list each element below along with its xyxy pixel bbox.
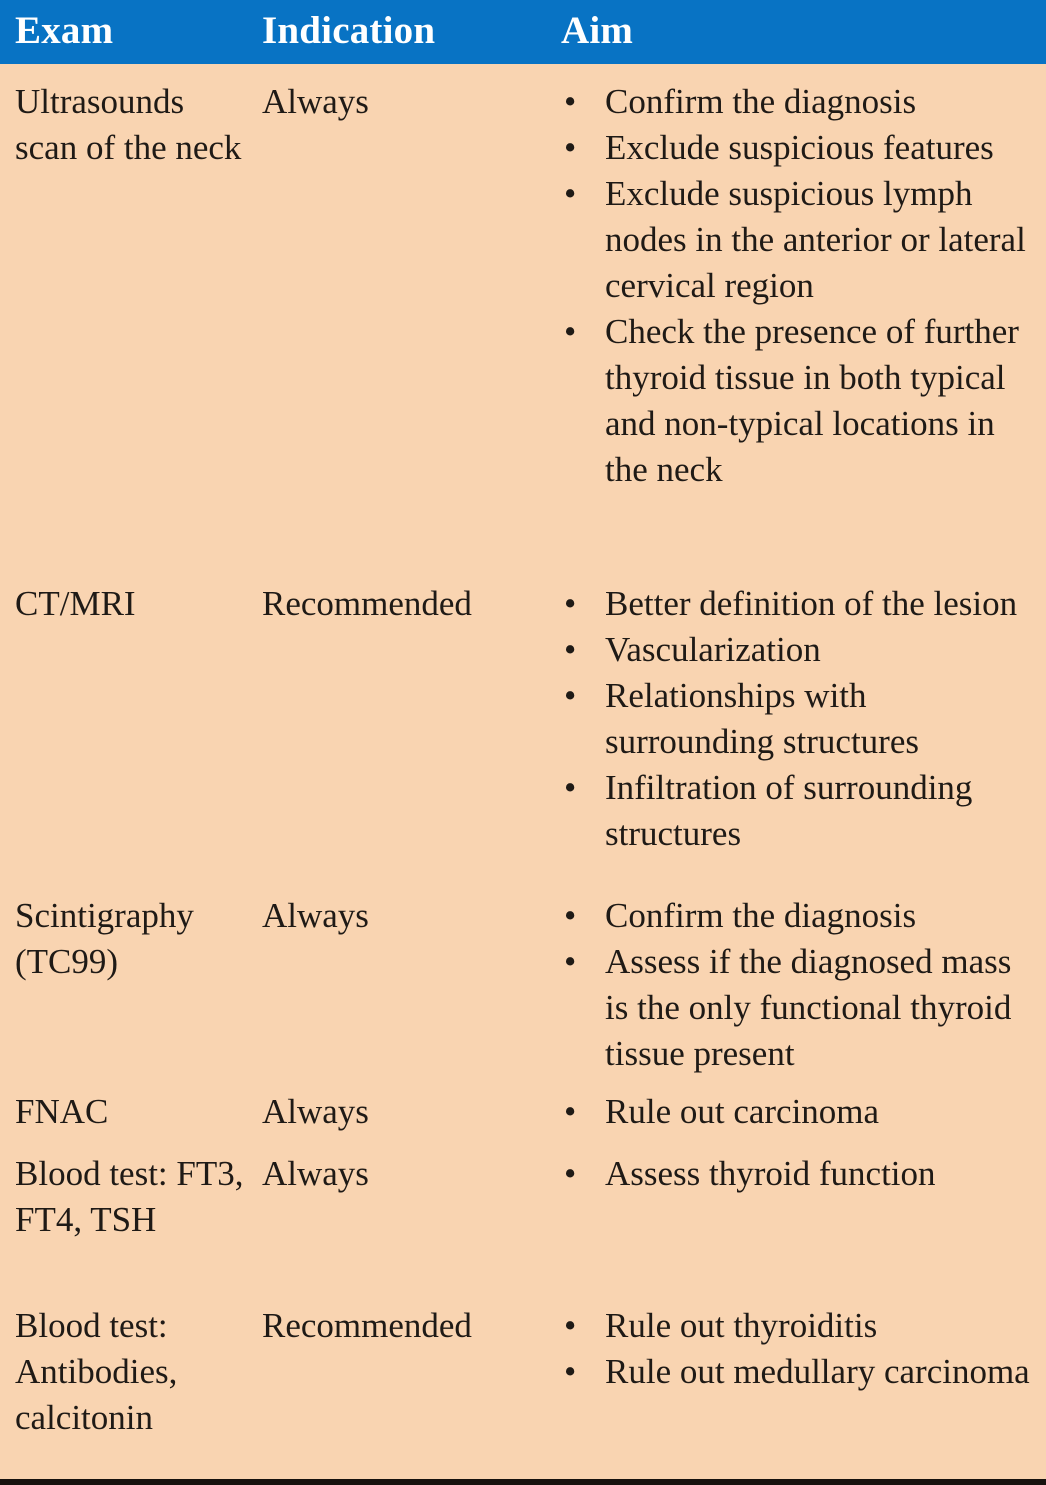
list-item: •Vascularization	[560, 627, 1032, 673]
cell-indication: Always	[262, 1151, 557, 1197]
cell-indication: Recommended	[262, 1303, 557, 1349]
cell-indication: Recommended	[262, 581, 557, 627]
column-header-indication: Indication	[262, 9, 435, 53]
bullet-icon: •	[564, 939, 576, 985]
list-item: •Assess thyroid function	[560, 1151, 1032, 1197]
list-item: •Infiltration of surrounding structures	[560, 765, 1032, 857]
list-item-label: Rule out carcinoma	[605, 1092, 879, 1131]
cell-exam: Scintigraphy (TC99)	[15, 893, 255, 985]
list-item: •Better definition of the lesion	[560, 581, 1032, 627]
table-header-row: Exam Indication Aim	[0, 0, 1046, 64]
table-row: Blood test: FT3, FT4, TSH Always •Assess…	[0, 1151, 1046, 1303]
list-item-label: Exclude suspicious features	[605, 128, 994, 167]
cell-indication: Always	[262, 79, 557, 125]
bullet-icon: •	[564, 1303, 576, 1349]
list-item-label: Confirm the diagnosis	[605, 82, 916, 121]
list-item-label: Relationships with surrounding structure…	[605, 676, 919, 761]
diagnostic-workup-table: Exam Indication Aim Ultrasounds scan of …	[0, 0, 1046, 1485]
cell-exam: Blood test: FT3, FT4, TSH	[15, 1151, 255, 1243]
cell-indication: Always	[262, 1089, 557, 1135]
cell-aim: •Confirm the diagnosis •Assess if the di…	[560, 893, 1040, 1077]
list-item-label: Rule out thyroiditis	[605, 1306, 877, 1345]
table-row: FNAC Always •Rule out carcinoma	[0, 1089, 1046, 1151]
table-body: Ultrasounds scan of the neck Always •Con…	[0, 69, 1046, 1453]
bullet-icon: •	[564, 1349, 576, 1395]
column-header-exam: Exam	[15, 9, 113, 53]
list-item: •Confirm the diagnosis	[560, 893, 1032, 939]
bullet-icon: •	[564, 79, 576, 125]
list-item-label: Infiltration of surrounding structures	[605, 768, 972, 853]
aim-bullet-list: •Confirm the diagnosis •Exclude suspicio…	[560, 79, 1032, 493]
aim-bullet-list: •Assess thyroid function	[560, 1151, 1032, 1197]
list-item: •Relationships with surrounding structur…	[560, 673, 1032, 765]
bullet-icon: •	[564, 765, 576, 811]
cell-exam: Blood test: Antibodies, calcitonin	[15, 1303, 255, 1441]
cell-aim: •Rule out thyroiditis •Rule out medullar…	[560, 1303, 1040, 1395]
bullet-icon: •	[564, 1089, 576, 1135]
bullet-icon: •	[564, 171, 576, 217]
bullet-icon: •	[564, 309, 576, 355]
table-bottom-border	[0, 1479, 1046, 1485]
aim-bullet-list: •Better definition of the lesion •Vascul…	[560, 581, 1032, 857]
list-item: •Rule out medullary carcinoma	[560, 1349, 1032, 1395]
cell-aim: •Assess thyroid function	[560, 1151, 1040, 1197]
list-item-label: Rule out medullary carcinoma	[605, 1352, 1030, 1391]
list-item-label: Confirm the diagnosis	[605, 896, 916, 935]
cell-aim: •Confirm the diagnosis •Exclude suspicio…	[560, 79, 1040, 493]
table-row: Scintigraphy (TC99) Always •Confirm the …	[0, 893, 1046, 1089]
cell-exam: CT/MRI	[15, 581, 255, 627]
bullet-icon: •	[564, 627, 576, 673]
aim-bullet-list: •Confirm the diagnosis •Assess if the di…	[560, 893, 1032, 1077]
list-item: •Confirm the diagnosis	[560, 79, 1032, 125]
table-row: Ultrasounds scan of the neck Always •Con…	[0, 71, 1046, 581]
bullet-icon: •	[564, 893, 576, 939]
list-item-label: Vascularization	[605, 630, 821, 669]
bullet-icon: •	[564, 125, 576, 171]
list-item: •Exclude suspicious lymph nodes in the a…	[560, 171, 1032, 309]
bullet-icon: •	[564, 1151, 576, 1197]
list-item-label: Assess thyroid function	[605, 1154, 936, 1193]
cell-exam: FNAC	[15, 1089, 255, 1135]
cell-indication: Always	[262, 893, 557, 939]
list-item-label: Assess if the diagnosed mass is the only…	[605, 942, 1011, 1073]
cell-aim: •Rule out carcinoma	[560, 1089, 1040, 1135]
table-row: Blood test: Antibodies, calcitonin Recom…	[0, 1303, 1046, 1453]
list-item: •Rule out carcinoma	[560, 1089, 1032, 1135]
bullet-icon: •	[564, 673, 576, 719]
cell-exam: Ultrasounds scan of the neck	[15, 79, 255, 171]
column-header-aim: Aim	[561, 9, 633, 53]
list-item: •Assess if the diagnosed mass is the onl…	[560, 939, 1032, 1077]
table-row: CT/MRI Recommended •Better definition of…	[0, 581, 1046, 893]
list-item: •Rule out thyroiditis	[560, 1303, 1032, 1349]
cell-aim: •Better definition of the lesion •Vascul…	[560, 581, 1040, 857]
aim-bullet-list: •Rule out thyroiditis •Rule out medullar…	[560, 1303, 1032, 1395]
bullet-icon: •	[564, 581, 576, 627]
list-item: •Exclude suspicious features	[560, 125, 1032, 171]
aim-bullet-list: •Rule out carcinoma	[560, 1089, 1032, 1135]
list-item-label: Better definition of the lesion	[605, 584, 1017, 623]
list-item: •Check the presence of further thyroid t…	[560, 309, 1032, 493]
list-item-label: Exclude suspicious lymph nodes in the an…	[605, 174, 1026, 305]
list-item-label: Check the presence of further thyroid ti…	[605, 312, 1019, 489]
